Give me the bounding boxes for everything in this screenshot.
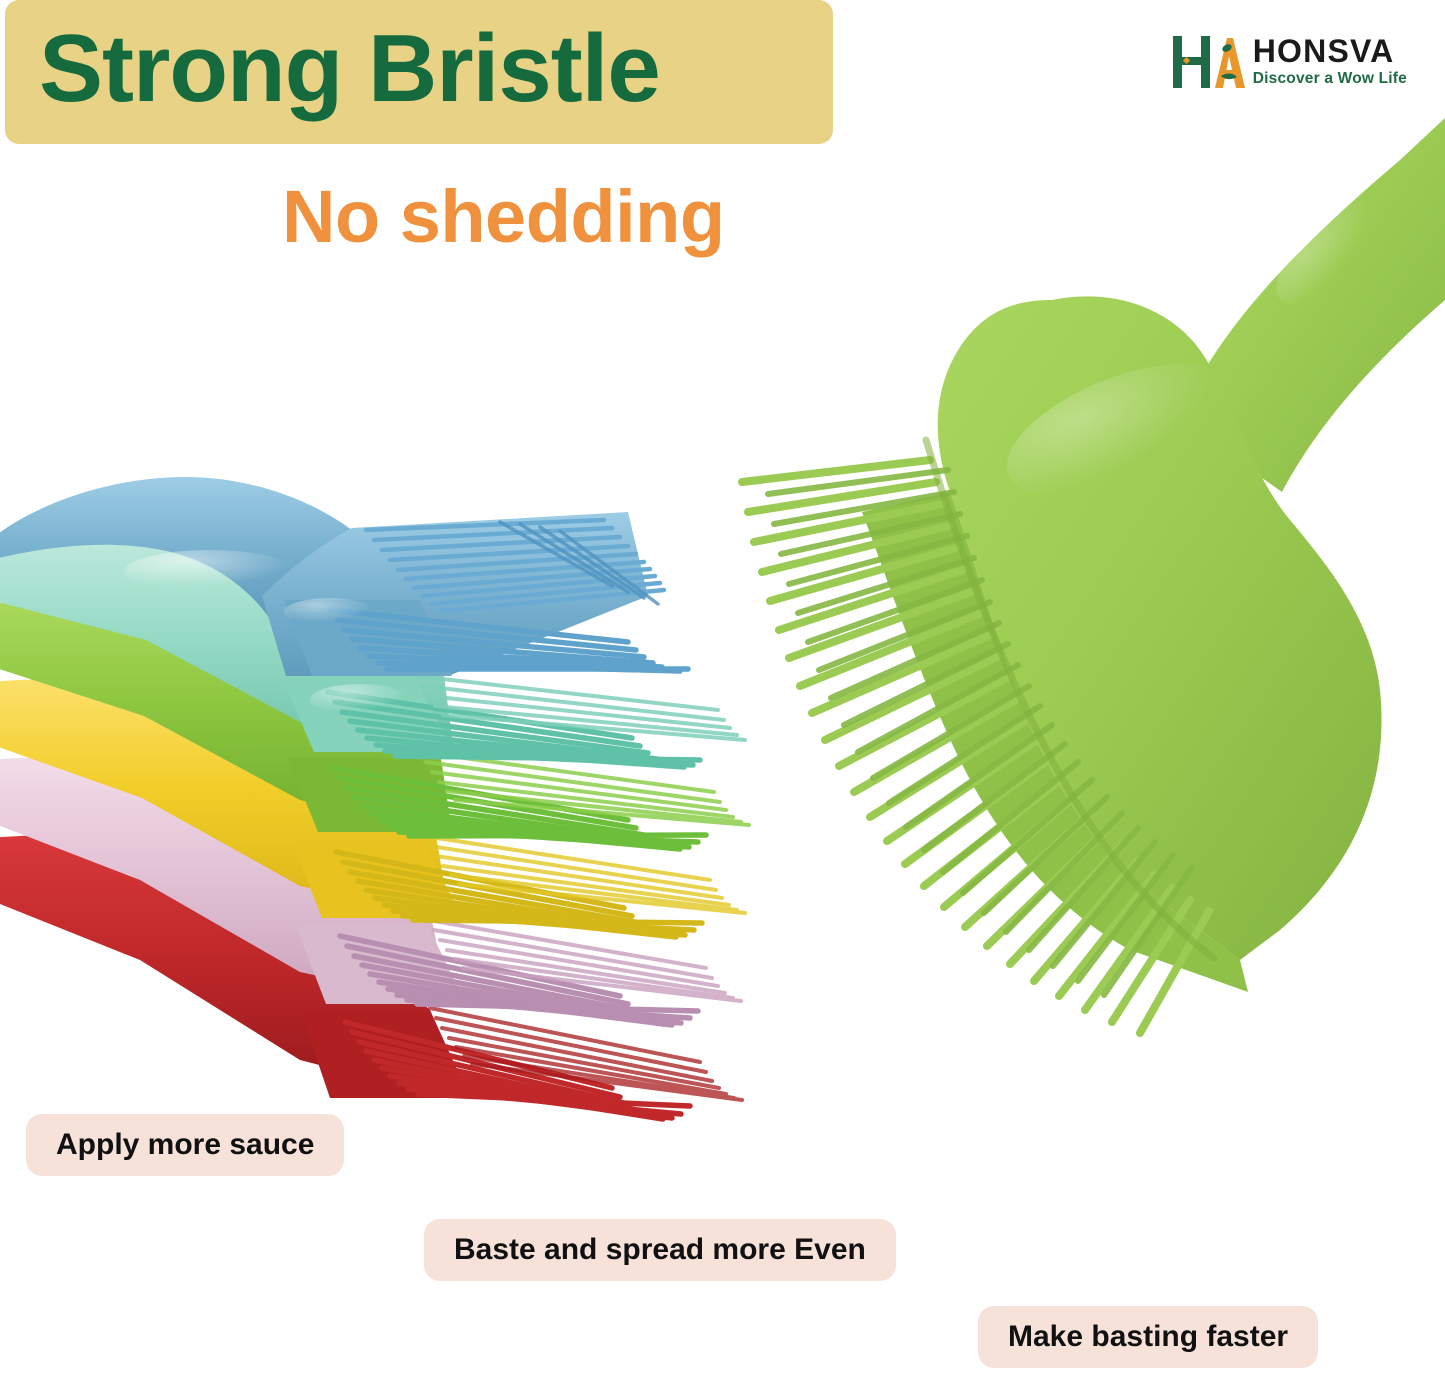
headline-subtitle: No shedding xyxy=(282,176,725,257)
product-marketing-image: Strong Bristle No shedding HONSVA Discov… xyxy=(0,0,1445,1378)
headline-title: Strong Bristle xyxy=(39,14,660,124)
brand-tagline: Discover a Wow Life xyxy=(1253,71,1407,87)
brush-blue xyxy=(0,477,688,676)
featured-green-brush xyxy=(742,118,1445,1033)
brand-name: HONSVA xyxy=(1253,35,1395,67)
ha-monogram-icon xyxy=(1171,30,1245,92)
brush-red xyxy=(0,835,742,1119)
brush-pink xyxy=(0,757,741,1025)
feature-pill-apply-more-sauce: Apply more sauce xyxy=(26,1114,344,1176)
feature-pill-make-basting-faster: Make basting faster xyxy=(978,1306,1318,1368)
brush-green xyxy=(0,601,749,849)
brush-yellow xyxy=(0,679,745,937)
brand-wordmark: HONSVA Discover a Wow Life xyxy=(1253,35,1407,87)
headline-banner: Strong Bristle xyxy=(5,0,833,144)
brand-logo: HONSVA Discover a Wow Life xyxy=(1171,30,1407,92)
feature-pill-baste-and-spread: Baste and spread more Even xyxy=(424,1219,896,1281)
brush-mint xyxy=(0,536,745,767)
stacked-brushes xyxy=(0,477,749,1119)
